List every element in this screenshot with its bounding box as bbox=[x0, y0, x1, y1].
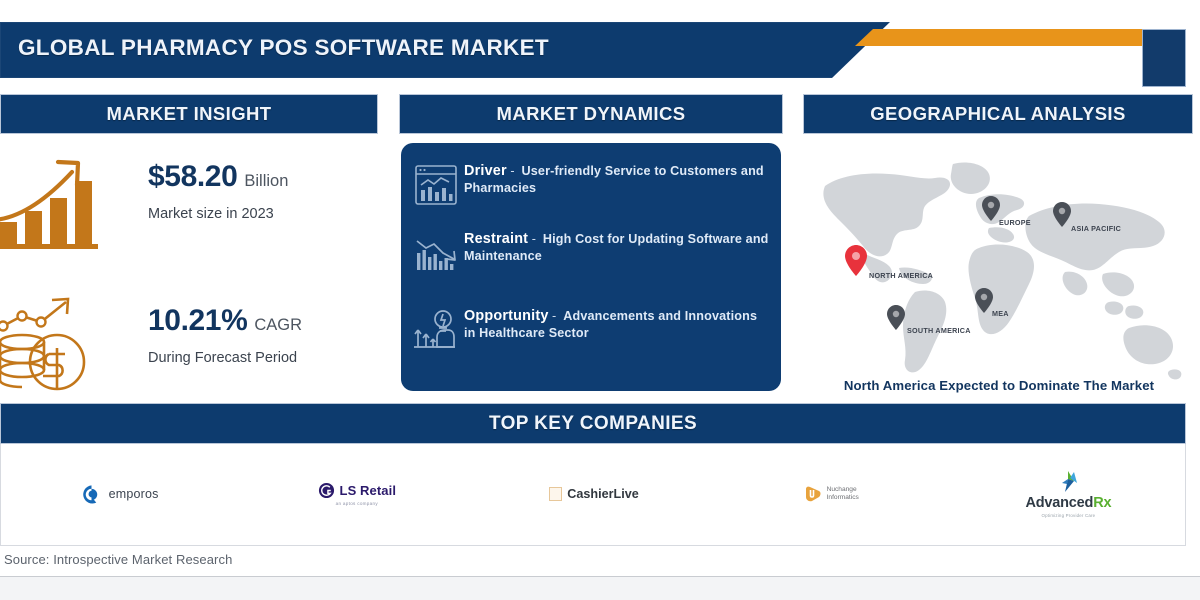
dynamics-opportunity-body: Opportunity - Advancements and Innovatio… bbox=[464, 308, 772, 342]
ls-retail-logo: LS Retail an aptos company bbox=[318, 482, 397, 506]
metric-market-size-text: $58.20Billion Market size in 2023 bbox=[148, 160, 288, 222]
map-label-north-america: NORTH AMERICA bbox=[869, 271, 933, 280]
advancedrx-mark-icon bbox=[1053, 470, 1083, 494]
cashierlive-mark-icon bbox=[549, 487, 562, 501]
emporos-mark-icon bbox=[81, 484, 102, 505]
company-cell-advancedrx: AdvancedRx Optimizing Provider Care bbox=[950, 444, 1187, 544]
metric-cagr-text: 10.21%CAGR During Forecast Period bbox=[148, 304, 302, 366]
ls-retail-name: LS Retail bbox=[340, 483, 397, 498]
map-label-asia-pacific: ASIA PACIFIC bbox=[1071, 224, 1121, 233]
dynamics-driver-text: User-friendly Service to Customers and P… bbox=[464, 164, 764, 195]
map-label-south-america: SOUTH AMERICA bbox=[907, 326, 971, 335]
analytics-window-icon bbox=[413, 163, 459, 207]
map-pin-south-america bbox=[887, 305, 905, 330]
nuchange-name-line2: Informatics bbox=[827, 494, 859, 502]
company-cell-ls-retail: LS Retail an aptos company bbox=[238, 444, 475, 544]
source-note: Source: Introspective Market Research bbox=[4, 552, 232, 567]
emporos-name: emporos bbox=[109, 487, 159, 501]
lightbulb-growth-icon bbox=[413, 308, 459, 352]
cagr-unit: CAGR bbox=[254, 316, 302, 335]
company-logo-row: emporos LS Retail an aptos company bbox=[1, 444, 1187, 544]
advancedrx-name: AdvancedRx bbox=[1025, 495, 1111, 511]
dynamics-driver-separator: - bbox=[510, 164, 514, 178]
nuchange-mark-icon bbox=[804, 485, 822, 503]
world-map bbox=[803, 142, 1195, 392]
header: GLOBAL PHARMACY POS SOFTWARE MARKET bbox=[0, 22, 1200, 78]
geographical-analysis-panel: NORTH AMERICA SOUTH AMERICA EUROPE MEA A… bbox=[803, 142, 1195, 392]
metric-cagr: 10.21%CAGR During Forecast Period bbox=[0, 292, 380, 397]
dynamics-restraint-separator: - bbox=[532, 232, 536, 246]
dynamics-restraint-label: Restraint bbox=[464, 231, 528, 247]
map-label-europe: EUROPE bbox=[999, 218, 1031, 227]
company-cell-emporos: emporos bbox=[1, 444, 238, 544]
ls-retail-tagline: an aptos company bbox=[336, 501, 378, 506]
header-accent-bar bbox=[855, 29, 1142, 46]
dynamics-driver-label: Driver bbox=[464, 163, 507, 179]
market-size-value: $58.20 bbox=[148, 160, 237, 194]
nuchange-logo: Nuchange Informatics bbox=[804, 485, 859, 503]
page-title: GLOBAL PHARMACY POS SOFTWARE MARKET bbox=[18, 35, 549, 61]
declining-bar-chart-icon bbox=[413, 231, 459, 275]
dynamics-opportunity-label: Opportunity bbox=[464, 308, 549, 324]
market-dynamics-card: Driver - User-friendly Service to Custom… bbox=[401, 143, 781, 391]
cashierlive-logo: CashierLive bbox=[549, 487, 638, 501]
company-cell-nuchange: Nuchange Informatics bbox=[713, 444, 950, 544]
market-size-unit: Billion bbox=[244, 172, 288, 191]
top-frame-strip bbox=[0, 0, 1200, 8]
metric-market-size: $58.20Billion Market size in 2023 bbox=[0, 148, 380, 253]
cagr-caption: During Forecast Period bbox=[148, 350, 302, 366]
geo-dominance-note: North America Expected to Dominate The M… bbox=[803, 378, 1195, 393]
top-key-companies-panel: emporos LS Retail an aptos company bbox=[0, 444, 1186, 546]
emporos-logo: emporos bbox=[81, 484, 159, 505]
ls-retail-mark-icon bbox=[318, 482, 335, 499]
dynamics-opportunity-separator: - bbox=[552, 309, 556, 323]
market-dynamics-banner: MARKET DYNAMICS bbox=[399, 94, 783, 134]
top-key-companies-banner: TOP KEY COMPANIES bbox=[0, 403, 1186, 444]
market-insight-banner: MARKET INSIGHT bbox=[0, 94, 378, 134]
dynamics-restraint-body: Restraint - High Cost for Updating Softw… bbox=[464, 231, 772, 265]
bar-chart-growth-icon bbox=[0, 148, 114, 253]
cashierlive-name: CashierLive bbox=[567, 487, 638, 501]
coins-trend-icon bbox=[0, 292, 114, 397]
map-label-mea: MEA bbox=[992, 309, 1009, 318]
market-size-caption: Market size in 2023 bbox=[148, 206, 288, 222]
advancedrx-logo: AdvancedRx Optimizing Provider Care bbox=[1025, 470, 1111, 518]
map-pin-north-america bbox=[845, 245, 867, 276]
dynamics-driver-body: Driver - User-friendly Service to Custom… bbox=[464, 163, 772, 197]
infographic-canvas: GLOBAL PHARMACY POS SOFTWARE MARKET MARK… bbox=[0, 0, 1200, 600]
geographical-analysis-banner: GEOGRAPHICAL ANALYSIS bbox=[803, 94, 1193, 134]
company-cell-cashierlive: CashierLive bbox=[475, 444, 712, 544]
header-right-block bbox=[1142, 29, 1186, 87]
advancedrx-tagline: Optimizing Provider Care bbox=[1041, 513, 1095, 518]
bottom-frame-strip bbox=[0, 577, 1200, 600]
nuchange-name-line1: Nuchange bbox=[827, 486, 859, 494]
cagr-value: 10.21% bbox=[148, 304, 247, 338]
market-insight-panel: $58.20Billion Market size in 2023 bbox=[0, 140, 380, 395]
